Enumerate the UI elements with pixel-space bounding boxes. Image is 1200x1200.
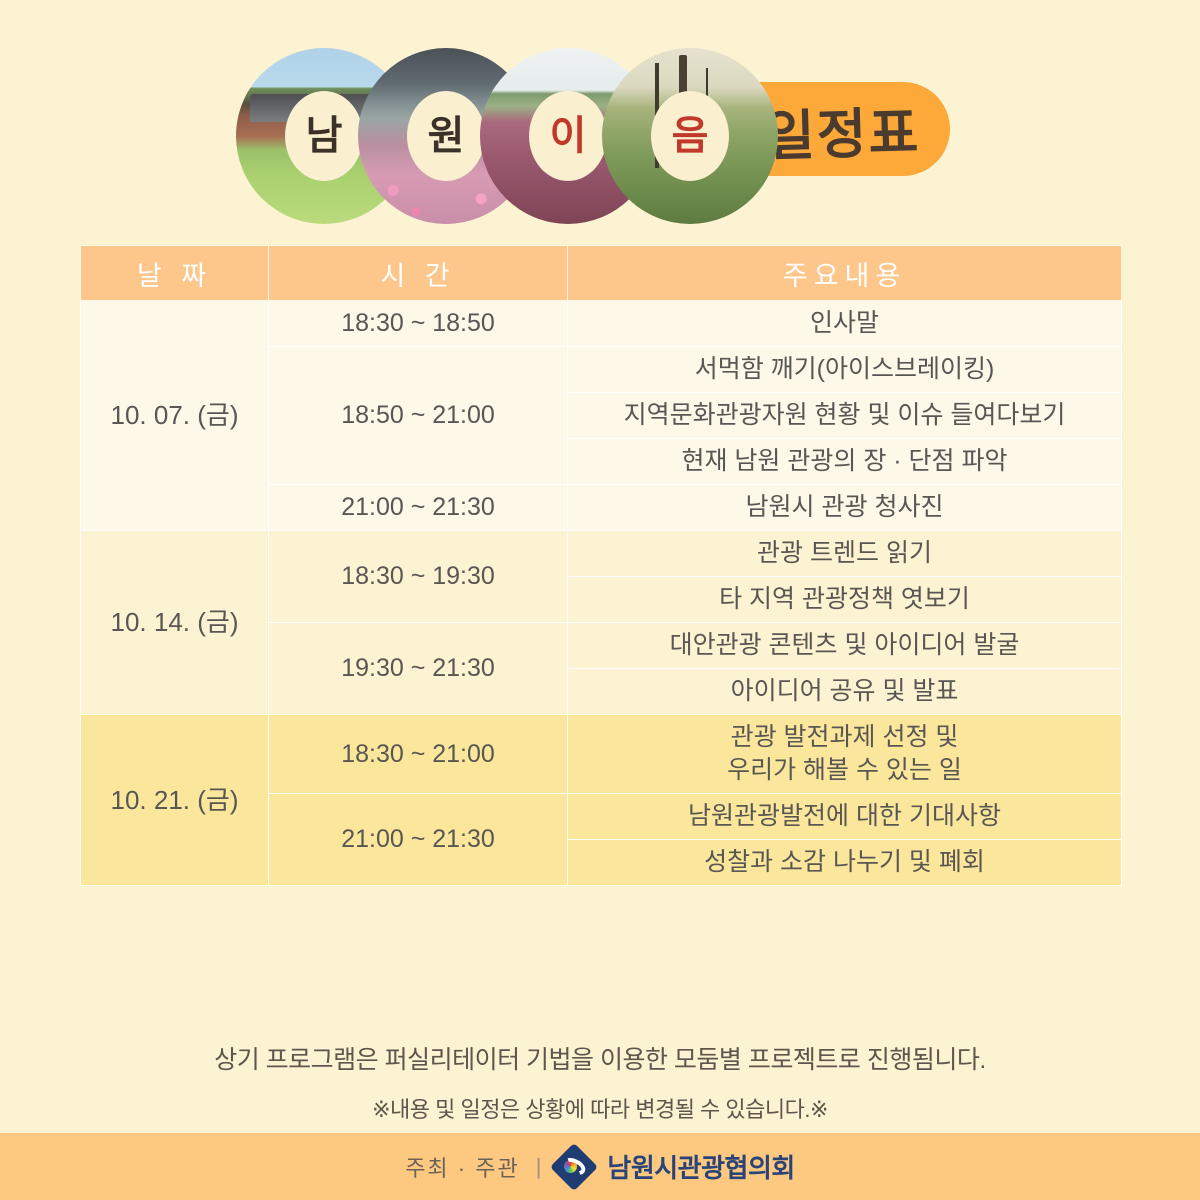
schedule-body: 10. 07. (금)18:30 ~ 18:50인사말18:50 ~ 21:00…: [81, 301, 1122, 886]
header-glyph-1: 남: [285, 91, 363, 181]
schedule-notes: 상기 프로그램은 퍼실리테이터 기법을 이용한 모둠별 프로젝트로 진행됨니다.…: [0, 1040, 1200, 1124]
content-cell: 타 지역 관광정책 엿보기: [568, 577, 1122, 623]
content-cell: 아이디어 공유 및 발표: [568, 669, 1122, 715]
time-cell: 19:30 ~ 21:30: [269, 623, 568, 715]
header-glyph-3: 이: [529, 91, 607, 181]
table-row: 10. 07. (금)18:30 ~ 18:50인사말: [81, 301, 1122, 347]
organization-name: 남원시관광협의회: [607, 1148, 794, 1185]
content-cell: 서먹함 깨기(아이스브레이킹): [568, 347, 1122, 393]
note-primary: 상기 프로그램은 퍼실리테이터 기법을 이용한 모둠별 프로젝트로 진행됨니다.: [0, 1040, 1200, 1076]
time-cell: 18:30 ~ 19:30: [269, 531, 568, 623]
time-cell: 18:30 ~ 21:00: [269, 715, 568, 794]
content-cell: 성찰과 소감 나누기 및 폐회: [568, 840, 1122, 886]
date-cell: 10. 07. (금): [81, 301, 269, 531]
column-header-date: 날 짜: [81, 246, 269, 301]
note-secondary: ※내용 및 일정은 상황에 따라 변경될 수 있습니다.※: [0, 1092, 1200, 1124]
table-header-row: 날 짜 시 간 주요내용: [81, 246, 1122, 301]
schedule-table: 날 짜 시 간 주요내용 10. 07. (금)18:30 ~ 18:50인사말…: [80, 245, 1122, 886]
footer-separator: |: [536, 1154, 542, 1180]
content-cell: 관광 트렌드 읽기: [568, 531, 1122, 577]
content-cell: 현재 남원 관광의 장 · 단점 파악: [568, 439, 1122, 485]
poster-header: 일정표 남 원 이 음: [0, 0, 1200, 240]
column-header-content: 주요내용: [568, 246, 1122, 301]
time-cell: 18:50 ~ 21:00: [269, 347, 568, 485]
time-cell: 18:30 ~ 18:50: [269, 301, 568, 347]
column-header-time: 시 간: [269, 246, 568, 301]
date-cell: 10. 21. (금): [81, 715, 269, 886]
content-cell: 남원관광발전에 대한 기대사항: [568, 794, 1122, 840]
header-circle-4: 음: [602, 48, 778, 224]
content-cell: 남원시 관광 청사진: [568, 485, 1122, 531]
content-cell: 대안관광 콘텐츠 및 아이디어 발굴: [568, 623, 1122, 669]
table-row: 10. 14. (금)18:30 ~ 19:30관광 트렌드 읽기: [81, 531, 1122, 577]
content-cell: 관광 발전과제 선정 및우리가 해볼 수 있는 일: [568, 715, 1122, 794]
date-cell: 10. 14. (금): [81, 531, 269, 715]
header-glyph-2: 원: [407, 91, 485, 181]
table-row: 10. 21. (금)18:30 ~ 21:00관광 발전과제 선정 및우리가 …: [81, 715, 1122, 794]
namwon-tourism-council-logo-icon: [557, 1150, 591, 1184]
content-cell: 지역문화관광자원 현황 및 이슈 들여다보기: [568, 393, 1122, 439]
host-label: 주최 · 주관: [405, 1151, 520, 1183]
content-cell: 인사말: [568, 301, 1122, 347]
poster-footer: 주최 · 주관 | 남원시관광협의회: [0, 1133, 1200, 1200]
header-glyph-4: 음: [651, 91, 729, 181]
time-cell: 21:00 ~ 21:30: [269, 485, 568, 531]
time-cell: 21:00 ~ 21:30: [269, 794, 568, 886]
schedule-badge-label: 일정표: [764, 87, 921, 170]
